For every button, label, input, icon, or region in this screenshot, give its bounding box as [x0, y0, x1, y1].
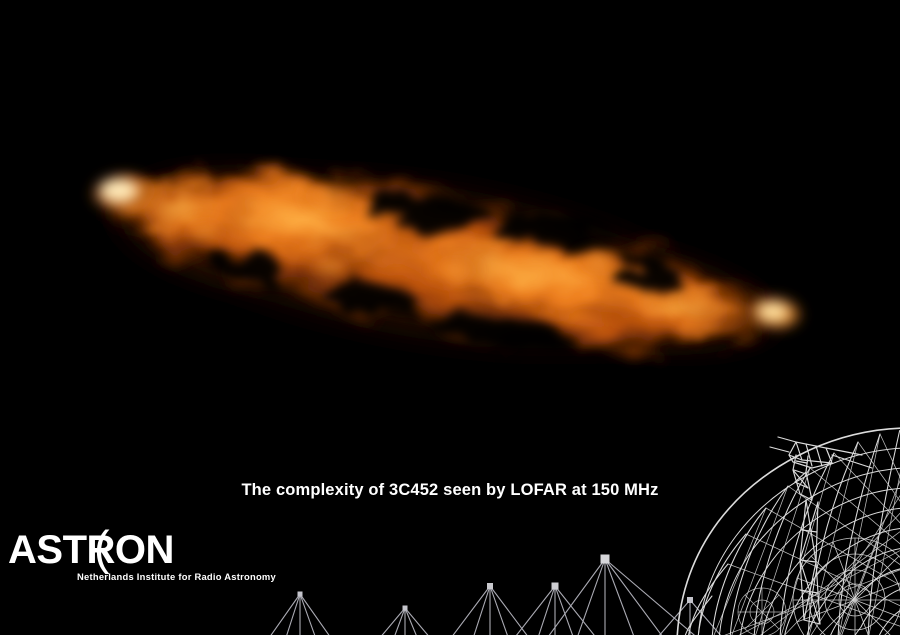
- astron-paren-icon: (: [94, 523, 110, 573]
- caption-text: The complexity of 3C452 seen by LOFAR at…: [0, 481, 900, 500]
- astron-tagline: Netherlands Institute for Radio Astronom…: [77, 571, 276, 582]
- poster-canvas: The complexity of 3C452 seen by LOFAR at…: [0, 0, 900, 635]
- astron-logo: ASTRON ( Netherlands Institute for Radio…: [8, 528, 268, 590]
- astron-wordmark: ASTRON: [8, 528, 174, 572]
